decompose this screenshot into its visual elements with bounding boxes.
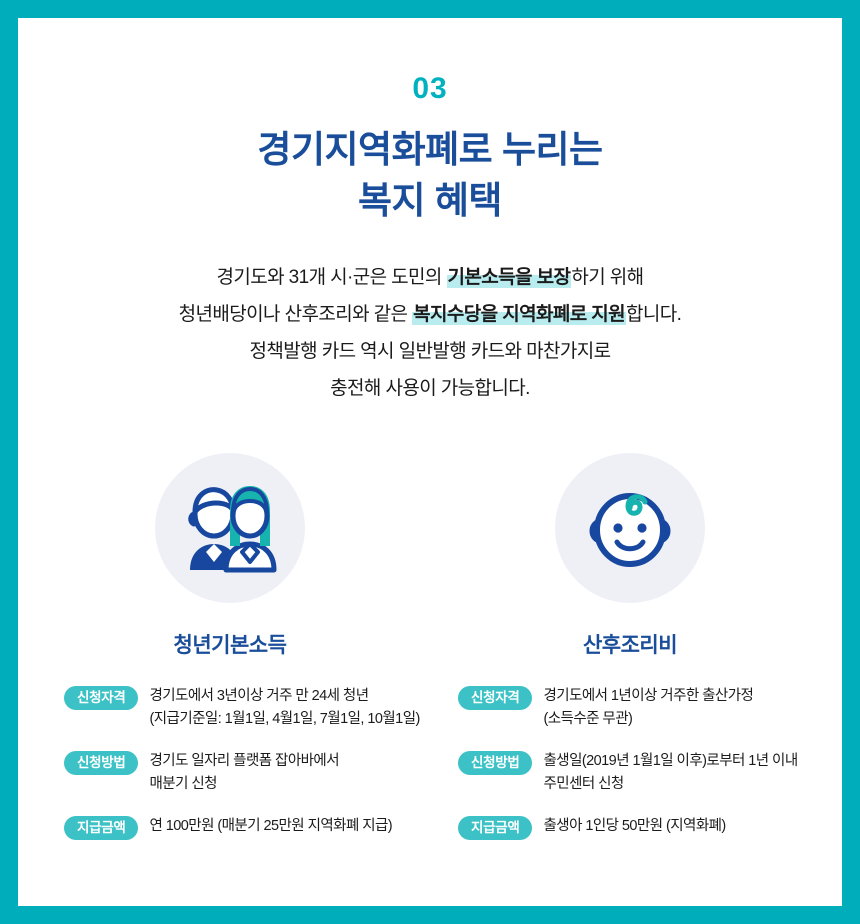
benefit-columns: 청년기본소득 신청자격 경기도에서 3년이상 거주 만 24세 청년 (지급기준… [18,453,842,840]
title-line-secondary: 복지 혜택 [18,177,842,224]
intro-line-2-prefix: 청년배당이나 산후조리와 같은 [179,304,412,325]
detail-pill-method: 신청방법 [64,751,138,776]
intro-line-4: 충전해 사용이 가능합니다. [18,370,842,407]
detail-text: 경기도에서 3년이상 거주 만 24세 청년 (지급기준일: 1월1일, 4월1… [149,685,419,732]
detail-row: 지급금액 출생아 1인당 50만원 (지역화폐) [458,815,830,841]
detail-pill-eligibility: 신청자격 [64,686,138,711]
detail-text-line-2: 주민센터 신청 [543,773,797,796]
detail-pill-amount: 지급금액 [458,816,532,841]
icon-circle-baby [555,453,705,603]
infographic-page: 03 경기지역화폐로 누리는 복지 혜택 경기도와 31개 시·군은 도민의 기… [0,0,860,924]
detail-text: 경기도 일자리 플랫폼 잡아바에서 매분기 신청 [149,750,339,797]
detail-row: 신청자격 경기도에서 3년이상 거주 만 24세 청년 (지급기준일: 1월1일… [64,685,430,732]
detail-row: 신청방법 경기도 일자리 플랫폼 잡아바에서 매분기 신청 [64,750,430,797]
intro-line-1-prefix: 경기도와 31개 시·군은 도민의 [216,267,446,288]
intro-line-2-suffix: 합니다. [626,304,681,325]
detail-text-line-1: 출생아 1인당 50만원 (지역화폐) [543,815,725,838]
detail-text-line-1: 경기도에서 1년이상 거주한 출산가정 [543,685,753,708]
intro-highlight-basic-income: 기본소득을 보장 [447,267,572,288]
benefit-column-postpartum-care: 산후조리비 신청자격 경기도에서 1년이상 거주한 출산가정 (소득수준 무관)… [430,453,830,840]
detail-text-line-2: (소득수준 무관) [543,708,753,731]
title-line-primary: 경기지역화폐로 누리는 [18,126,842,173]
detail-row: 신청자격 경기도에서 1년이상 거주한 출산가정 (소득수준 무관) [458,685,830,732]
detail-pill-amount: 지급금액 [64,816,138,841]
intro-line-1: 경기도와 31개 시·군은 도민의 기본소득을 보장하기 위해 [18,259,842,296]
intro-line-1-suffix: 하기 위해 [571,267,643,288]
benefit-label-postpartum-care: 산후조리비 [583,629,677,659]
young-couple-icon [176,482,284,574]
benefit-label-youth-basic-income: 청년기본소득 [174,629,287,659]
intro-line-2: 청년배당이나 산후조리와 같은 복지수당을 지역화폐로 지원합니다. [18,296,842,333]
detail-list-baby: 신청자격 경기도에서 1년이상 거주한 출산가정 (소득수준 무관) 신청방법 … [430,685,830,840]
detail-list-youth: 신청자격 경기도에서 3년이상 거주 만 24세 청년 (지급기준일: 1월1일… [30,685,430,840]
intro-highlight-welfare-allowance: 복지수당을 지역화폐로 지원 [412,304,626,325]
intro-line-3: 정책발행 카드 역시 일반발행 카드와 마찬가지로 [18,333,842,370]
icon-circle-youth [155,453,305,603]
infographic-canvas: 03 경기지역화폐로 누리는 복지 혜택 경기도와 31개 시·군은 도민의 기… [18,18,842,906]
detail-text: 경기도에서 1년이상 거주한 출산가정 (소득수준 무관) [543,685,753,732]
detail-text: 연 100만원 (매분기 25만원 지역화폐 지급) [149,815,392,838]
section-number: 03 [18,74,842,104]
detail-pill-method: 신청방법 [458,751,532,776]
detail-text-line-2: (지급기준일: 1월1일, 4월1일, 7월1일, 10월1일) [149,708,419,731]
detail-pill-eligibility: 신청자격 [458,686,532,711]
detail-text-line-1: 연 100만원 (매분기 25만원 지역화폐 지급) [149,815,392,838]
detail-text-line-1: 경기도 일자리 플랫폼 잡아바에서 [149,750,339,773]
detail-row: 지급금액 연 100만원 (매분기 25만원 지역화폐 지급) [64,815,430,841]
detail-text: 출생아 1인당 50만원 (지역화폐) [543,815,725,838]
page-title: 경기지역화폐로 누리는 복지 혜택 [18,126,842,225]
baby-face-icon [584,484,676,572]
detail-text-line-1: 경기도에서 3년이상 거주 만 24세 청년 [149,685,419,708]
detail-text: 출생일(2019년 1월1일 이후)로부터 1년 이내 주민센터 신청 [543,750,797,797]
intro-paragraph: 경기도와 31개 시·군은 도민의 기본소득을 보장하기 위해 청년배당이나 산… [18,259,842,407]
benefit-column-youth-basic-income: 청년기본소득 신청자격 경기도에서 3년이상 거주 만 24세 청년 (지급기준… [30,453,430,840]
detail-row: 신청방법 출생일(2019년 1월1일 이후)로부터 1년 이내 주민센터 신청 [458,750,830,797]
detail-text-line-1: 출생일(2019년 1월1일 이후)로부터 1년 이내 [543,750,797,773]
detail-text-line-2: 매분기 신청 [149,773,339,796]
